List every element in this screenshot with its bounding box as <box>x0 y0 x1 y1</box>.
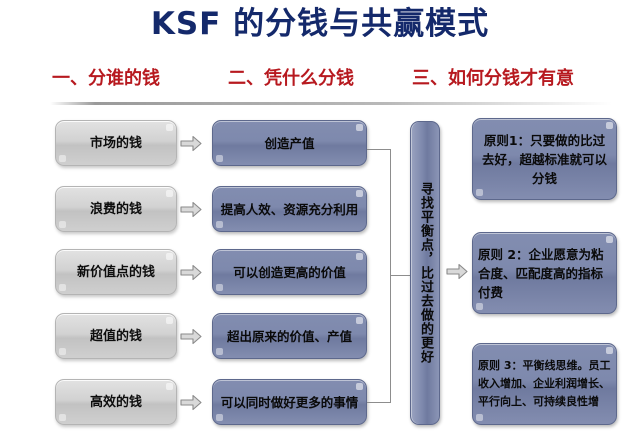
arrow-right-icon-4 <box>180 328 202 345</box>
left-box-4[interactable]: 超值的钱 <box>55 313 177 359</box>
center-pillar-label: 寻找平衡点，比过去做的更好 <box>414 182 436 364</box>
connector-top-horizontal <box>367 149 391 150</box>
middle-box-1-label: 创造产值 <box>213 135 366 152</box>
section-heading-2: 二、凭什么分钱 <box>228 64 354 94</box>
arrow-right-icon-3 <box>180 264 202 281</box>
middle-box-5-label: 可以同时做好更多的事情 <box>213 394 366 411</box>
middle-box-2[interactable]: 提高人效、资源充分利用 <box>212 186 367 232</box>
left-box-2-label: 浪费的钱 <box>56 201 176 218</box>
right-box-principle-3[interactable]: 原则 3：平衡线思维。员工收入增加、企业利润增长、平行向上、可持续良性增 <box>472 343 617 425</box>
right-box-principle-1[interactable]: 原则1：只要做的比过去好，超越标准就可以分钱 <box>472 118 617 200</box>
right-box-principle-2-label: 原则 2：企业愿意为粘合度、匹配度高的指标付费 <box>473 245 616 302</box>
left-box-1-label: 市场的钱 <box>56 135 176 152</box>
middle-box-1[interactable]: 创造产值 <box>212 120 367 166</box>
middle-box-2-label: 提高人效、资源充分利用 <box>213 201 366 218</box>
left-box-3-label: 新价值点的钱 <box>56 264 176 281</box>
connector-mid-horizontal <box>390 275 410 276</box>
arrow-right-icon-2 <box>180 201 202 218</box>
left-box-2[interactable]: 浪费的钱 <box>55 186 177 232</box>
center-pillar-box[interactable]: 寻找平衡点，比过去做的更好 <box>410 121 440 425</box>
left-box-5[interactable]: 高效的钱 <box>55 379 177 425</box>
section-heading-3: 三、如何分钱才有意 <box>412 64 574 94</box>
middle-box-3-label: 可以创造更高的价值 <box>213 264 366 281</box>
connector-bottom-horizontal <box>367 402 391 403</box>
heading-divider <box>50 102 612 105</box>
left-box-1[interactable]: 市场的钱 <box>55 120 177 166</box>
right-box-principle-2[interactable]: 原则 2：企业愿意为粘合度、匹配度高的指标付费 <box>472 232 617 314</box>
left-box-4-label: 超值的钱 <box>56 328 176 345</box>
left-box-3[interactable]: 新价值点的钱 <box>55 249 177 295</box>
right-box-principle-3-label: 原则 3：平衡线思维。员工收入增加、企业利润增长、平行向上、可持续良性增 <box>473 357 616 411</box>
left-box-5-label: 高效的钱 <box>56 394 176 411</box>
right-box-principle-1-label: 原则1：只要做的比过去好，超越标准就可以分钱 <box>473 131 616 188</box>
section-heading-1: 一、分谁的钱 <box>52 64 160 94</box>
middle-box-3[interactable]: 可以创造更高的价值 <box>212 249 367 295</box>
slide-canvas: KSF 的分钱与共赢模式 一、分谁的钱 二、凭什么分钱 三、如何分钱才有意 市场… <box>0 0 640 440</box>
arrow-right-icon-6 <box>446 263 468 280</box>
middle-box-4-label: 超出原来的价值、产值 <box>213 328 366 345</box>
middle-box-4[interactable]: 超出原来的价值、产值 <box>212 313 367 359</box>
page-title: KSF 的分钱与共赢模式 <box>0 4 640 44</box>
arrow-right-icon-1 <box>180 135 202 152</box>
arrow-right-icon-5 <box>180 394 202 411</box>
connector-vertical <box>390 149 391 403</box>
middle-box-5[interactable]: 可以同时做好更多的事情 <box>212 379 367 425</box>
